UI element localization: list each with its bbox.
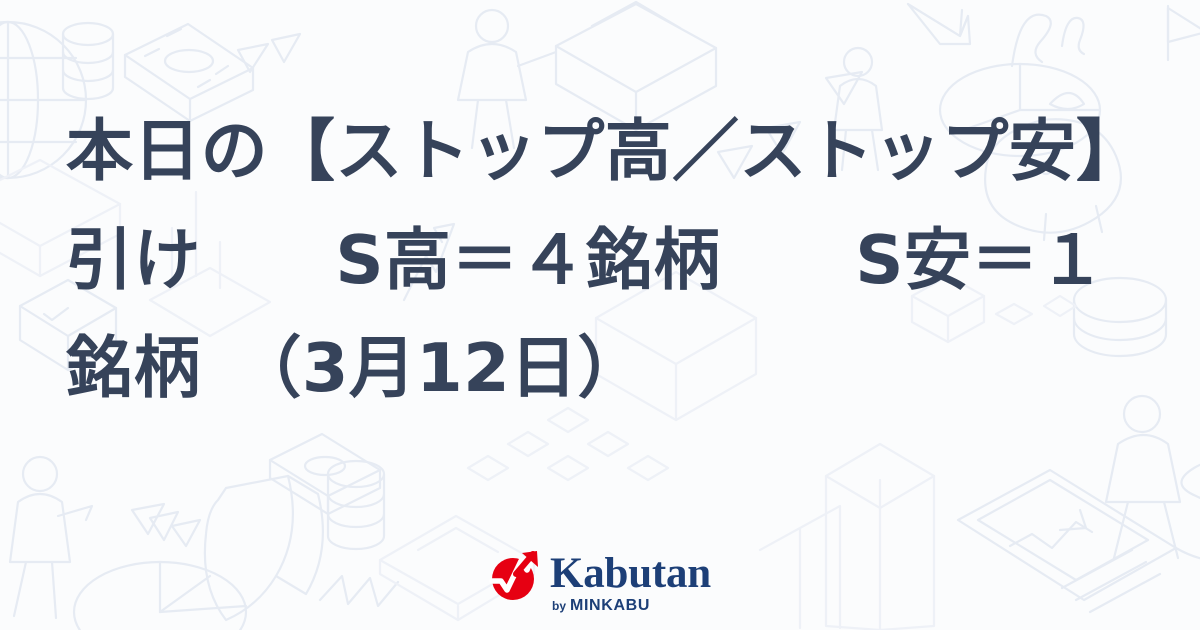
- kabutan-mark-icon: [489, 550, 541, 602]
- minkabu-label: MINKABU: [570, 598, 650, 614]
- ogp-card: 本日の【ストップ高／ストップ安】引け S高＝４銘柄 S安＝１銘柄 （3月12日）…: [0, 0, 1200, 630]
- kabutan-logo: Kabutan by MINKABU: [0, 548, 1200, 614]
- headline-area: 本日の【ストップ高／ストップ安】引け S高＝４銘柄 S安＝１銘柄 （3月12日）: [0, 0, 1200, 520]
- kabutan-wordmark: Kabutan: [550, 553, 711, 595]
- by-label: by: [552, 600, 566, 612]
- page-title: 本日の【ストップ高／ストップ安】引け S高＝４銘柄 S安＝１銘柄 （3月12日）: [66, 97, 1134, 423]
- minkabu-attribution: by MINKABU: [552, 598, 650, 614]
